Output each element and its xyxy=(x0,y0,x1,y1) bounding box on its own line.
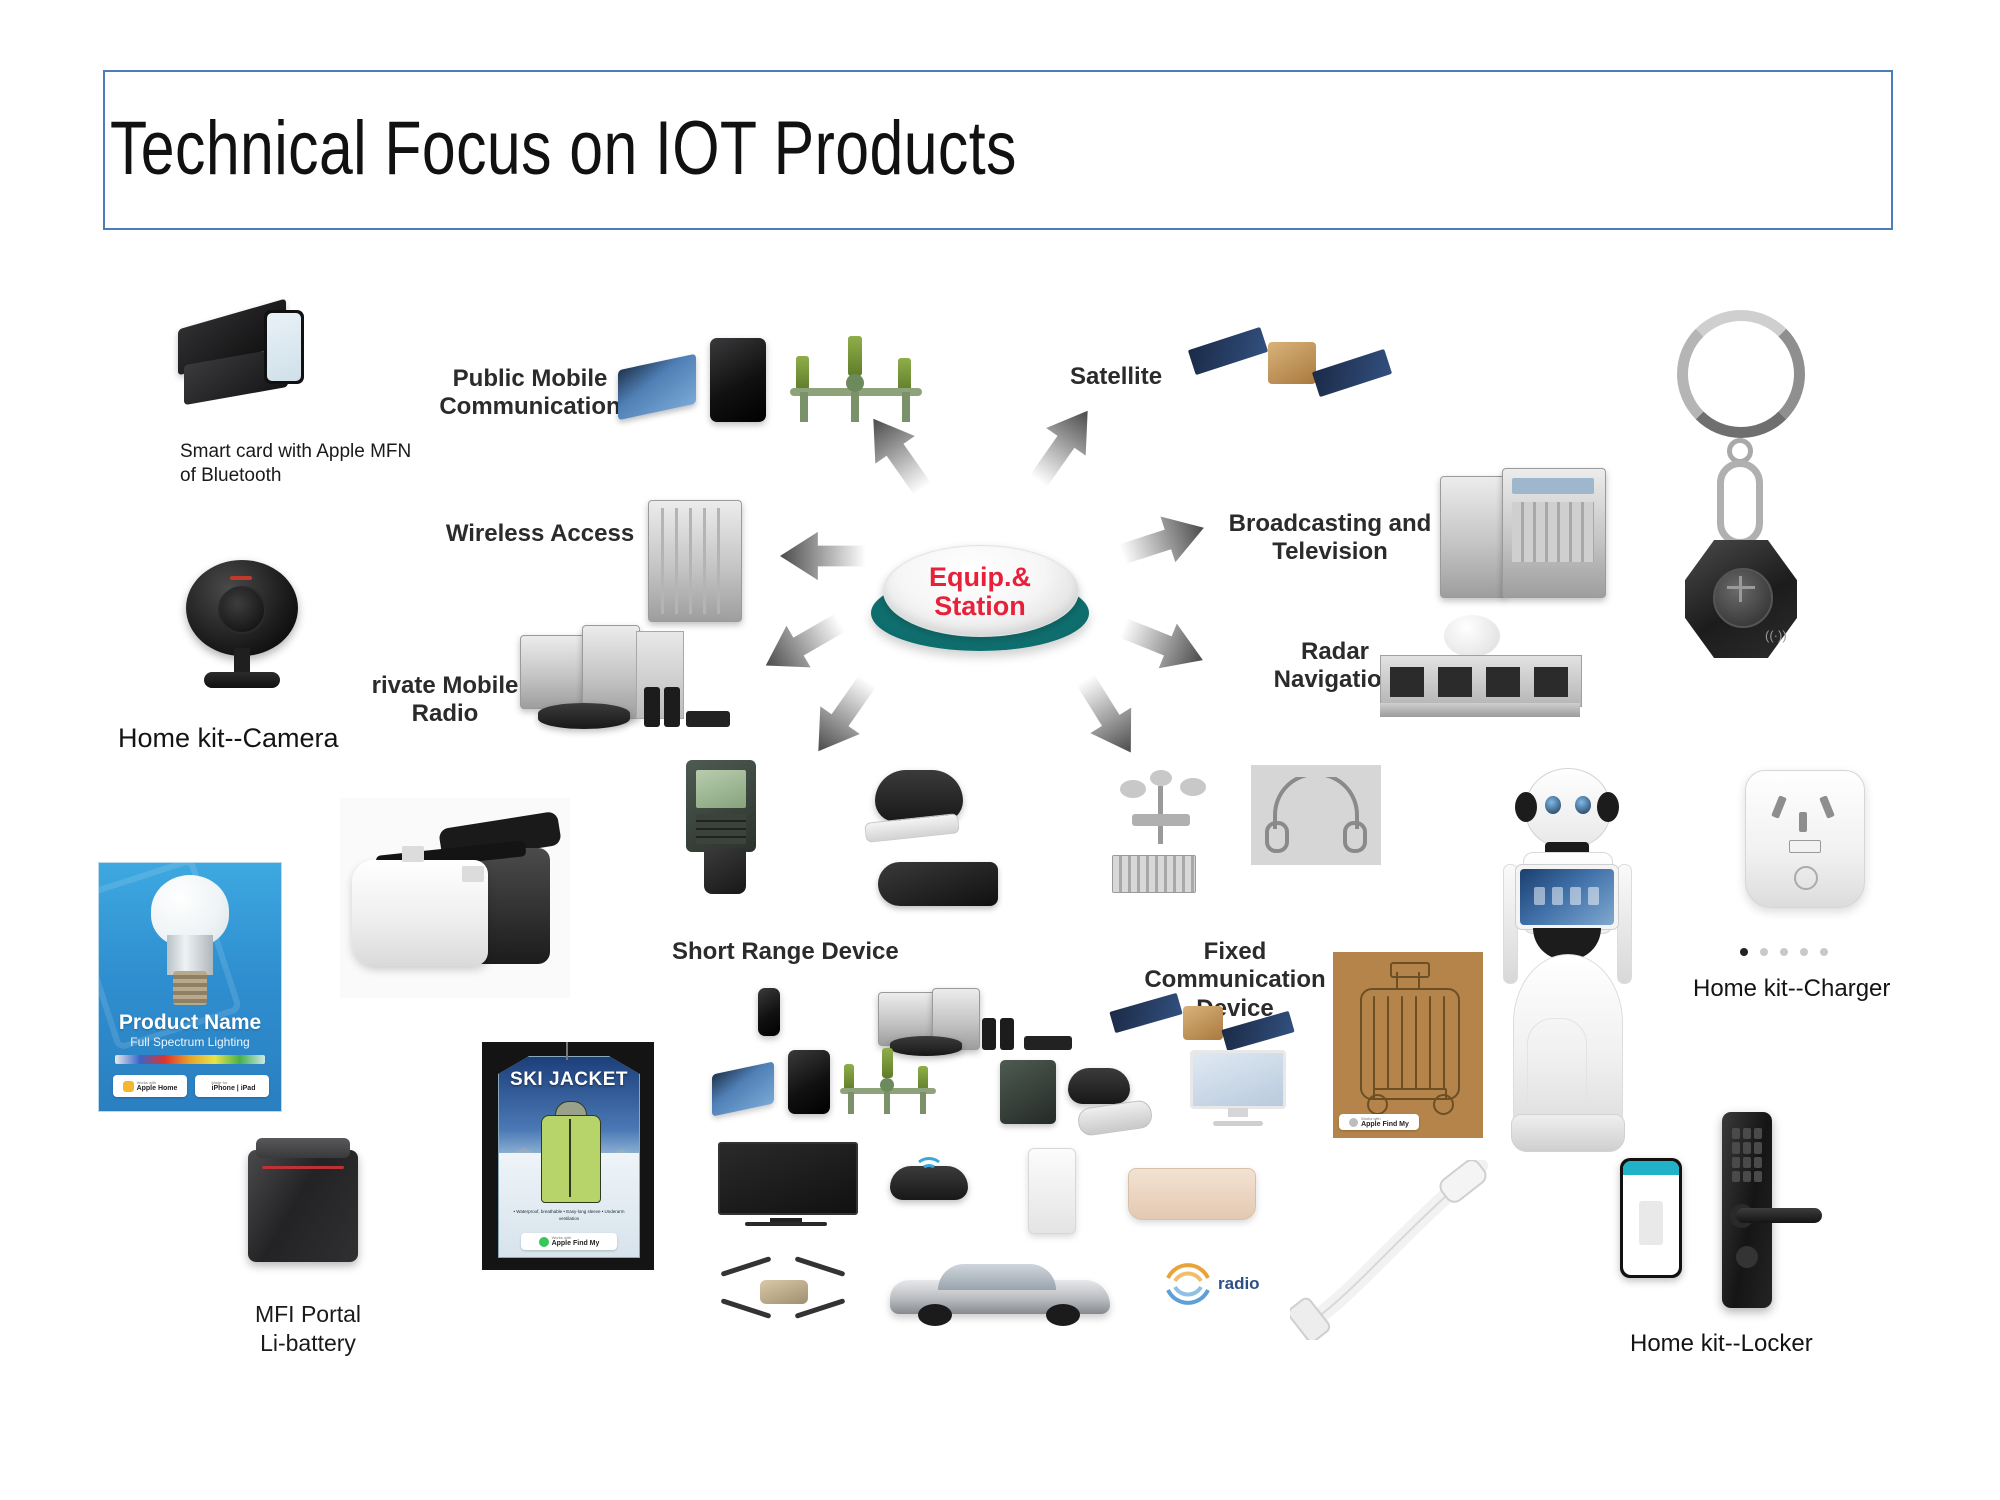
air-conditioner-device xyxy=(1128,1168,1256,1220)
hub-label-line2: Station xyxy=(865,592,1095,621)
home-kit-charger-device xyxy=(1745,770,1863,930)
label-line2: Communication xyxy=(420,393,640,421)
pagination-dot-4[interactable] xyxy=(1800,948,1808,956)
black-phone-device-row2 xyxy=(788,1050,830,1114)
home-kit-smart-lock-device xyxy=(1700,1112,1796,1308)
ski-jacket-title: SKI JACKET xyxy=(499,1069,639,1091)
pagination-dot-1[interactable] xyxy=(1740,948,1748,956)
mouse-device-row2 xyxy=(1068,1068,1130,1104)
service-robot-device xyxy=(1487,768,1647,1158)
tablet-device-row2 xyxy=(712,1061,774,1116)
label-public-mobile-communication: Public Mobile Communication xyxy=(420,365,640,422)
label-line1: Fixed Communication xyxy=(1110,938,1360,995)
robot-chest-tablet xyxy=(1515,864,1619,930)
smart-bulb-product-card: Product Name Full Spectrum Lighting Work… xyxy=(98,862,282,1112)
jacket-zipper xyxy=(569,1119,571,1197)
pagination-dot-5[interactable] xyxy=(1820,948,1828,956)
made-for-iphone-ipad-badge: Made for iPhone | iPad xyxy=(195,1075,269,1097)
pagination-dot-2[interactable] xyxy=(1760,948,1768,956)
pos-terminal-device xyxy=(1000,1060,1056,1124)
smart-card-label-line1: Smart card with Apple MFN xyxy=(180,440,440,464)
tablet-device xyxy=(618,354,696,421)
hang-tag: SKI JACKET • Waterproof, breathable • Ea… xyxy=(498,1056,640,1258)
camera-lens-glass xyxy=(218,586,266,634)
concept-car-device xyxy=(890,1258,1110,1328)
ski-badge-main: Apple Find My xyxy=(552,1240,600,1247)
lock-handle xyxy=(1736,1208,1822,1223)
radar-navigation-equipment xyxy=(1380,615,1580,735)
lock-keypad xyxy=(1732,1128,1762,1182)
radio-logo-label: radio xyxy=(1218,1274,1260,1294)
label-line1: Wireless Access xyxy=(430,520,650,548)
label-private-mobile-radio: rivate Mobile Radio xyxy=(340,672,550,729)
hub-label-line1: Equip.& xyxy=(865,563,1095,592)
headphones-icon-box xyxy=(1251,765,1381,865)
mfi-portal-label: MFI Portal Li-battery xyxy=(218,1300,398,1358)
label-line1: Short Range Device xyxy=(672,938,952,966)
wifi-signal-icon xyxy=(916,1156,942,1172)
battery-indicator-line xyxy=(262,1166,344,1169)
arrow-to-fixed-communication-device xyxy=(1063,666,1153,766)
bluetooth-keyring-tracker-device: ((·)) xyxy=(1655,310,1835,740)
antenna-tower-icon xyxy=(786,330,926,426)
robot-base xyxy=(1511,1114,1625,1152)
case-badge-main: Apple Find My xyxy=(1361,1121,1409,1128)
label-wireless-access: Wireless Access xyxy=(430,520,650,548)
apple-find-my-badge-suitcase: Works with Apple Find My xyxy=(1339,1114,1419,1130)
badge1-main: Apple Home xyxy=(137,1085,178,1092)
equip-station-hub: Equip.& Station xyxy=(865,545,1095,655)
radio-logo: radio xyxy=(1162,1256,1282,1318)
broadcasting-equipment-rack xyxy=(1440,468,1605,596)
arrow-to-broadcasting xyxy=(1114,503,1212,579)
robot-eye-right xyxy=(1575,796,1591,814)
nfc-icon: ((·)) xyxy=(1765,628,1787,643)
heatsink-module xyxy=(1112,855,1196,893)
suitcase-wheel-left xyxy=(1367,1094,1388,1115)
arrow-to-private-mobile-radio xyxy=(753,600,853,688)
wireless-access-cabinet xyxy=(648,500,742,622)
label-line1: rivate Mobile xyxy=(340,672,550,700)
mfi-portal-label-line2: Li-battery xyxy=(218,1329,398,1358)
robot-front-panel xyxy=(1527,1018,1587,1116)
works-with-apple-home-badge: Works with Apple Home xyxy=(113,1075,187,1097)
drone-device xyxy=(718,1258,848,1328)
smart-lock-app-phone xyxy=(1620,1158,1682,1278)
arrow-to-satellite xyxy=(1017,396,1109,496)
car-key-fob-device xyxy=(878,862,998,906)
imac-desktop-device xyxy=(1190,1050,1286,1126)
home-kit-camera-label: Home kit--Camera xyxy=(118,723,418,754)
arrow-to-radar-navigation xyxy=(1113,604,1212,684)
wifi-router-device xyxy=(1028,1148,1076,1234)
bulb-product-name: Product Name xyxy=(99,1011,281,1035)
label-line2: Television xyxy=(1215,538,1445,566)
headphones-icon xyxy=(1265,777,1367,853)
television-device xyxy=(718,1142,854,1226)
hub-label: Equip.& Station xyxy=(865,563,1095,621)
home-kit-locker-label: Home kit--Locker xyxy=(1630,1330,1930,1358)
charger-power-button xyxy=(1794,866,1818,890)
bulb-tagline: Full Spectrum Lighting xyxy=(99,1035,281,1049)
robot-ear-left xyxy=(1515,792,1537,822)
jacket-body xyxy=(541,1115,601,1203)
vr-headset-device xyxy=(340,798,570,998)
handset-device xyxy=(1076,1099,1153,1137)
camera-led-indicator xyxy=(230,576,252,580)
pagination-dot-3[interactable] xyxy=(1780,948,1788,956)
antenna-tower-icon-row2 xyxy=(838,1044,938,1116)
home-kit-charger-label: Home kit--Charger xyxy=(1693,975,1993,1003)
mfi-portal-label-line1: MFI Portal xyxy=(218,1300,398,1329)
srd-module-device xyxy=(758,988,780,1036)
arrow-to-short-range-device xyxy=(797,666,889,766)
spectrum-bar xyxy=(115,1055,265,1064)
handheld-scanner-device xyxy=(672,760,782,895)
suitcase-wheel-right xyxy=(1433,1094,1454,1115)
smart-card-device-cluster xyxy=(178,310,338,420)
remote-control-device xyxy=(864,813,960,843)
usb-c-lightning-cable xyxy=(1290,1160,1510,1340)
black-phone-device xyxy=(710,338,766,422)
home-kit-camera-device xyxy=(178,560,308,700)
robot-eye-left xyxy=(1545,796,1561,814)
robot-ear-right xyxy=(1597,792,1619,822)
label-line1: Public Mobile xyxy=(420,365,640,393)
label-short-range-device: Short Range Device xyxy=(672,938,952,966)
suitcase-find-my-card: Works with Apple Find My xyxy=(1333,952,1483,1138)
smart-card-label-line2: of Bluetooth xyxy=(180,464,440,488)
suitcase-body xyxy=(1360,988,1460,1100)
badge2-main: iPhone | iPad xyxy=(212,1085,256,1092)
apple-find-my-badge-ski: Works with Apple Find My xyxy=(521,1233,617,1250)
bulb-neck xyxy=(167,935,213,975)
ski-jacket-tag-card: SKI JACKET • Waterproof, breathable • Ea… xyxy=(482,1042,654,1270)
label-line1: Broadcasting and xyxy=(1215,510,1445,538)
radio-waves-icon xyxy=(1162,1256,1214,1312)
satellite-icon xyxy=(1190,320,1390,410)
smart-card-label: Smart card with Apple MFN of Bluetooth xyxy=(180,440,440,488)
robot-arm-right xyxy=(1617,864,1632,984)
private-mobile-radio-equipment xyxy=(520,625,730,745)
lock-fingerprint-sensor xyxy=(1736,1246,1758,1268)
label-broadcasting-and-television: Broadcasting and Television xyxy=(1215,510,1445,567)
charger-usb-port xyxy=(1789,840,1821,853)
charger-pagination-dots[interactable] xyxy=(1740,948,1828,956)
page-title: Technical Focus on IOT Products xyxy=(110,105,1470,192)
bulb-screw-base xyxy=(173,971,207,1005)
ski-jacket-bullets: • Waterproof, breathable • Easy-long sle… xyxy=(507,1209,631,1223)
mfi-portal-li-battery-device xyxy=(248,1138,358,1262)
arrow-to-wireless-access xyxy=(780,530,866,582)
